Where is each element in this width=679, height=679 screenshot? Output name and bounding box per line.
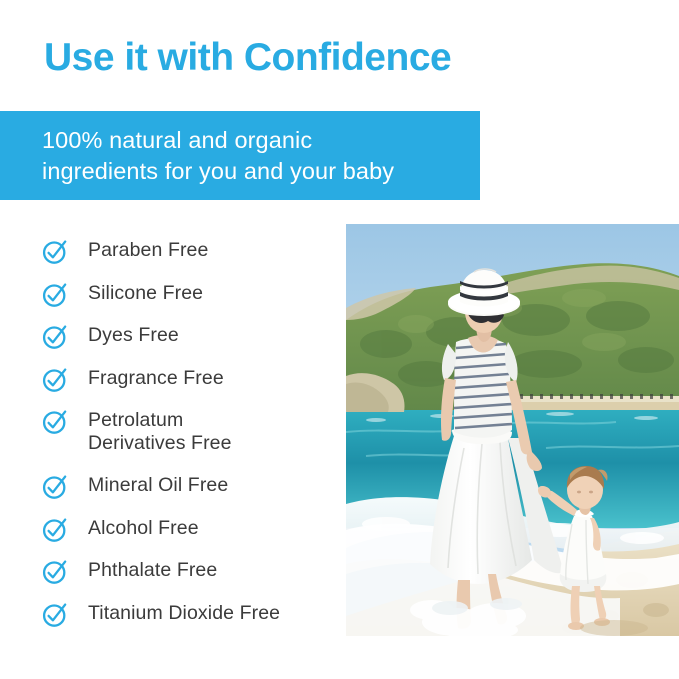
list-item: Titanium Dioxide Free <box>42 601 342 627</box>
list-item: Phthalate Free <box>42 558 342 584</box>
benefits-checklist: Paraben Free Silicone Free Dyes Free <box>42 238 342 643</box>
list-item-label: Alcohol Free <box>88 516 199 540</box>
list-item-label: Silicone Free <box>88 281 203 305</box>
check-circle-icon <box>42 474 68 500</box>
subtitle-line-1: 100% natural and organic <box>42 125 462 156</box>
page-title: Use it with Confidence <box>44 38 451 79</box>
infographic-page: Use it with Confidence 100% natural and … <box>0 0 679 679</box>
subtitle-text: 100% natural and organic ingredients for… <box>42 125 462 187</box>
list-item: Paraben Free <box>42 238 342 264</box>
check-circle-icon <box>42 239 68 265</box>
check-circle-icon <box>42 602 68 628</box>
subtitle-banner: 100% natural and organic ingredients for… <box>0 111 480 200</box>
list-item: Alcohol Free <box>42 516 342 542</box>
list-item-label: Phthalate Free <box>88 558 217 582</box>
list-item: Silicone Free <box>42 281 342 307</box>
list-item-label: Dyes Free <box>88 323 179 347</box>
check-circle-icon <box>42 367 68 393</box>
list-item-label: Fragrance Free <box>88 366 224 390</box>
list-item-label: Petrolatum Derivatives Free <box>88 408 232 455</box>
check-circle-icon <box>42 409 68 435</box>
list-item: Dyes Free <box>42 323 342 349</box>
list-item-label: Titanium Dioxide Free <box>88 601 280 625</box>
list-item: Petrolatum Derivatives Free <box>42 408 342 455</box>
list-item-label: Mineral Oil Free <box>88 473 228 497</box>
list-item: Mineral Oil Free <box>42 473 342 499</box>
subtitle-line-2: ingredients for you and your baby <box>42 156 462 187</box>
check-circle-icon <box>42 559 68 585</box>
list-item: Fragrance Free <box>42 366 342 392</box>
list-item-label: Paraben Free <box>88 238 208 262</box>
check-circle-icon <box>42 282 68 308</box>
lifestyle-photo <box>346 224 679 636</box>
check-circle-icon <box>42 517 68 543</box>
check-circle-icon <box>42 324 68 350</box>
